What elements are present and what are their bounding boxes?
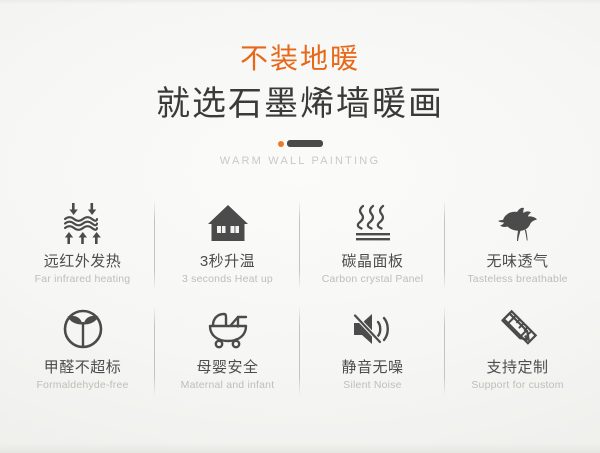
title-divider xyxy=(275,140,325,147)
feature-label-cn: 甲醛不超标 xyxy=(44,358,122,377)
feature-label-en: 3 seconds Heat up xyxy=(182,272,273,287)
feature-label-cn: 3秒升温 xyxy=(200,252,255,271)
page-title: 就选石墨烯墙暖画 xyxy=(0,82,600,126)
stroller-icon xyxy=(202,306,254,352)
title-top: 不装地暖 xyxy=(0,42,600,76)
feature-item-silent-noise: 静音无噪 Silent Noise xyxy=(300,298,445,404)
heat-panel-icon xyxy=(347,200,399,246)
subtitle: WARM WALL PAINTING xyxy=(0,155,600,167)
feature-label-cn: 母婴安全 xyxy=(196,358,258,377)
feature-label-cn: 碳晶面板 xyxy=(341,252,403,271)
feature-label-en: Silent Noise xyxy=(343,378,401,393)
feature-item-support-for-custom: 支持定制 Support for custom xyxy=(445,298,590,404)
promo-poster: 不装地暖 就选石墨烯墙暖画 WARM WALL PAINTING xyxy=(0,0,600,453)
bird-icon xyxy=(492,200,544,246)
feature-item-3-seconds-heat-up: 3秒升温 3 seconds Heat up xyxy=(155,192,300,298)
feature-label-cn: 远红外发热 xyxy=(44,252,122,271)
ruler-pencil-icon xyxy=(492,306,544,352)
feature-item-far-infrared-heating: 远红外发热 Far infrared heating xyxy=(10,192,155,298)
feature-item-formaldehyde-free: 甲醛不超标 Formaldehyde-free xyxy=(10,298,155,404)
divider-bar xyxy=(287,140,323,147)
mute-speaker-icon xyxy=(347,306,399,352)
feature-label-en: Carbon crystal Panel xyxy=(322,272,423,287)
feature-label-cn: 支持定制 xyxy=(486,358,548,377)
sprout-circle-icon xyxy=(57,306,109,352)
feature-label-en: Maternal and infant xyxy=(181,378,275,393)
feature-label-cn: 静音无噪 xyxy=(341,358,403,377)
feature-label-en: Far infrared heating xyxy=(35,272,131,287)
feature-label-en: Formaldehyde-free xyxy=(36,378,128,393)
house-icon xyxy=(202,200,254,246)
feature-item-tasteless-breathable: 无味透气 Tasteless breathable xyxy=(445,192,590,298)
feature-label-cn: 无味透气 xyxy=(486,252,548,271)
feature-label-en: Support for custom xyxy=(471,378,563,393)
infrared-heat-icon xyxy=(57,200,109,246)
poster-header: 不装地暖 就选石墨烯墙暖画 WARM WALL PAINTING xyxy=(0,42,600,167)
divider-dot xyxy=(278,141,284,147)
feature-label-en: Tasteless breathable xyxy=(467,272,567,287)
feature-item-carbon-crystal-panel: 碳晶面板 Carbon crystal Panel xyxy=(300,192,445,298)
feature-grid: 远红外发热 Far infrared heating 3秒升温 3 second… xyxy=(10,192,590,404)
feature-item-maternal-and-infant: 母婴安全 Maternal and infant xyxy=(155,298,300,404)
